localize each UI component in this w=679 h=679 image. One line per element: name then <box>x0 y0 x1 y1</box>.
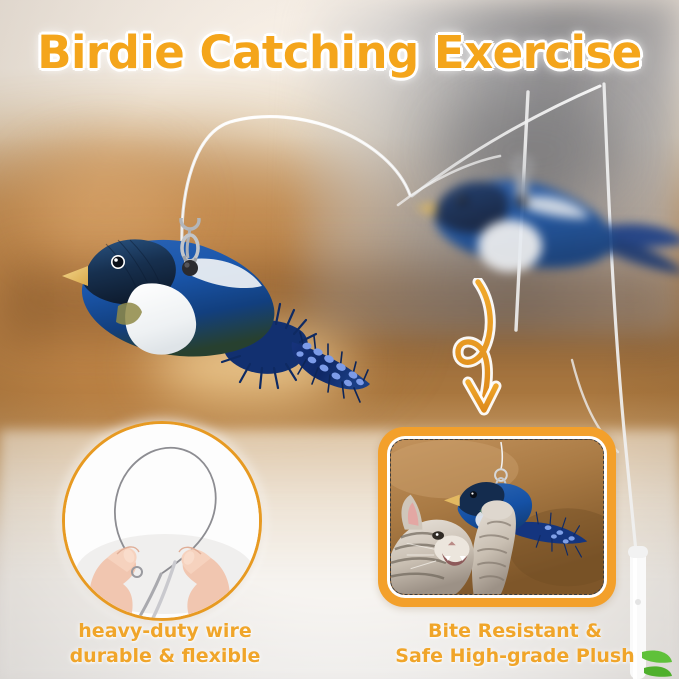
caption-left-line2: durable & flexible <box>0 644 330 669</box>
caption-right: Bite Resistant & Safe High-grade Plush <box>350 619 679 669</box>
caption-right-line2: Safe High-grade Plush <box>350 644 679 669</box>
bird-clasp-knot <box>182 260 198 276</box>
panel-cat-inner-frame <box>387 436 607 598</box>
panel-cat-demo[interactable] <box>378 427 616 607</box>
panel-wire-demo[interactable] <box>62 421 262 621</box>
bird-beak <box>62 266 88 286</box>
panel-wire-photo <box>65 424 259 618</box>
page-title: Birdie Catching Exercise <box>0 26 679 79</box>
bird-toy-main <box>60 218 390 418</box>
panel-cat-photo <box>390 439 604 595</box>
caption-left: heavy-duty wire durable & flexible <box>0 619 330 669</box>
caption-right-line1: Bite Resistant & <box>350 619 679 644</box>
product-infographic: Birdie Catching Exercise heavy-duty wire… <box>0 0 679 679</box>
curly-arrow-icon <box>440 278 570 438</box>
bird-eye <box>111 255 125 269</box>
caption-left-line1: heavy-duty wire <box>0 619 330 644</box>
